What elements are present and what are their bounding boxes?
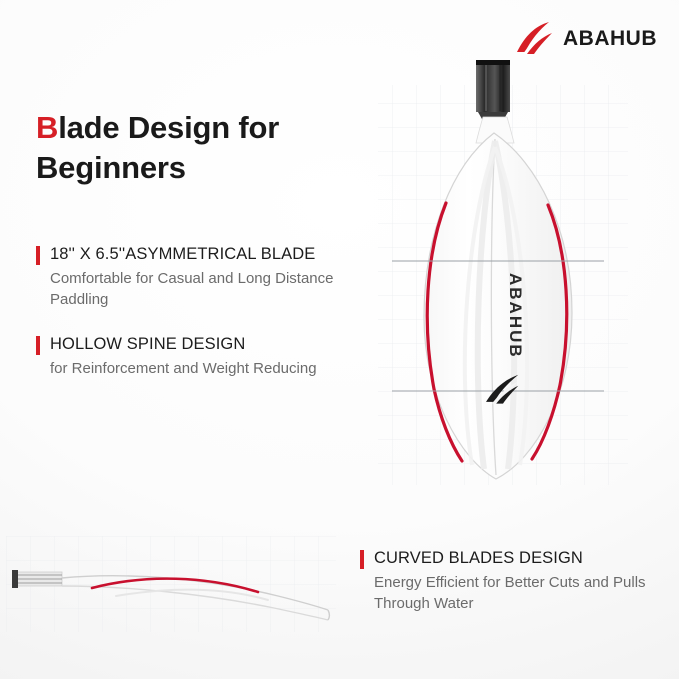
brand-logo: ABAHUB (513, 18, 657, 60)
brand-name: ABAHUB (563, 27, 657, 51)
abahub-swoosh-icon (513, 18, 555, 60)
product-infographic-page: ABAHUB Blade Design for Beginners 18'' X… (0, 0, 679, 679)
feature-title: 18'' X 6.5''ASYMMETRICAL BLADE (50, 244, 381, 265)
feature-description: Energy Efficient for Better Cuts and Pul… (374, 572, 674, 615)
headline-accent-letter: B (36, 110, 58, 145)
feature-item-hollow-spine: HOLLOW SPINE DESIGN for Reinforcement an… (36, 334, 381, 379)
page-title: Blade Design for Beginners (36, 108, 366, 187)
paddle-blade-side-profile (6, 512, 351, 652)
feature-title: CURVED BLADES DESIGN (374, 548, 674, 569)
feature-description: for Reinforcement and Weight Reducing (50, 358, 381, 379)
feature-description: Comfortable for Casual and Long Distance… (50, 268, 381, 311)
feature-item-curved-blades: CURVED BLADES DESIGN Energy Efficient fo… (360, 548, 674, 614)
feature-item-asymmetrical-blade: 18'' X 6.5''ASYMMETRICAL BLADE Comfortab… (36, 244, 381, 310)
feature-list: 18'' X 6.5''ASYMMETRICAL BLADE Comfortab… (36, 244, 381, 403)
headline-line-1: lade Design for (58, 110, 279, 145)
headline-line-2: Beginners (36, 150, 186, 185)
paddle-blade-front-view: ABAHUB (368, 55, 668, 505)
feature-title: HOLLOW SPINE DESIGN (50, 334, 381, 355)
blade-brand-label: ABAHUB (506, 273, 525, 359)
